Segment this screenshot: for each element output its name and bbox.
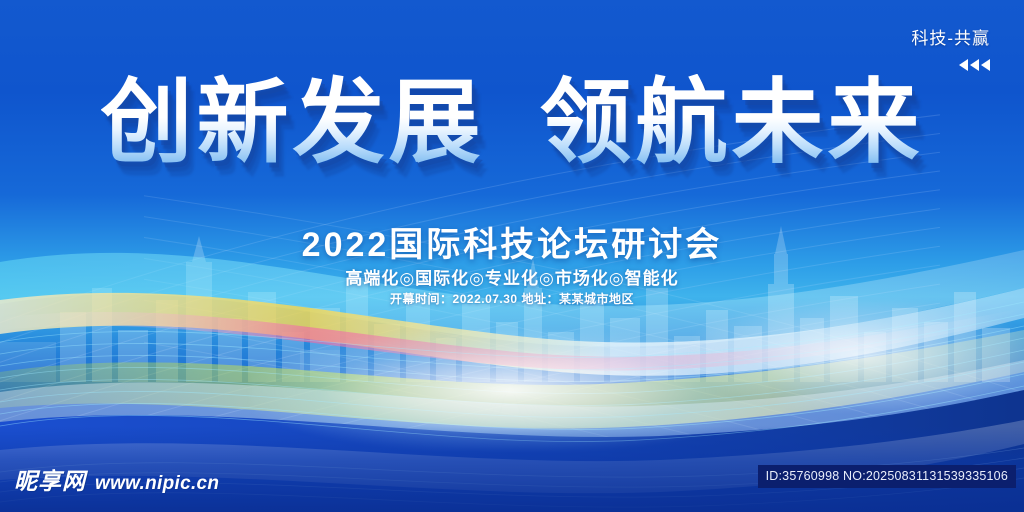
watermark: 昵享网 www.nipic.cn: [14, 462, 219, 496]
event-subtitle: 2022国际科技论坛研讨会: [302, 226, 723, 264]
right-glow: [690, 300, 1024, 410]
corner-tag: 科技-共赢: [911, 24, 990, 71]
event-poster: 科技-共赢 创新发展 领航未来 2022国际科技论坛研讨会 高端化◎国际化◎专业…: [0, 0, 1024, 512]
left-triangle-icon: [970, 59, 979, 71]
triple-left-triangle-icon: [911, 59, 990, 71]
id-badge: ID:35760998 NO:20250831131539335106: [758, 465, 1016, 488]
subtitle-block: 2022国际科技论坛研讨会: [0, 217, 1024, 266]
left-triangle-icon: [959, 59, 968, 71]
event-tagline: 高端化◎国际化◎专业化◎市场化◎智能化: [0, 264, 1024, 289]
corner-tag-text: 科技-共赢: [911, 24, 990, 49]
headline-block: 创新发展 领航未来: [0, 74, 1024, 173]
watermark-url: www.nipic.cn: [95, 473, 219, 495]
headline-line-1: 创新发展: [101, 74, 485, 173]
arc-striation-pattern-right: [144, 120, 1024, 512]
watermark-logo: 昵享网: [14, 462, 86, 496]
headline-line-2: 领航未来: [539, 74, 923, 173]
center-glow: [250, 330, 770, 450]
left-triangle-icon: [981, 59, 990, 71]
event-meta-line: 开幕时间：2022.07.30 地址：某某城市地区: [0, 290, 1024, 307]
